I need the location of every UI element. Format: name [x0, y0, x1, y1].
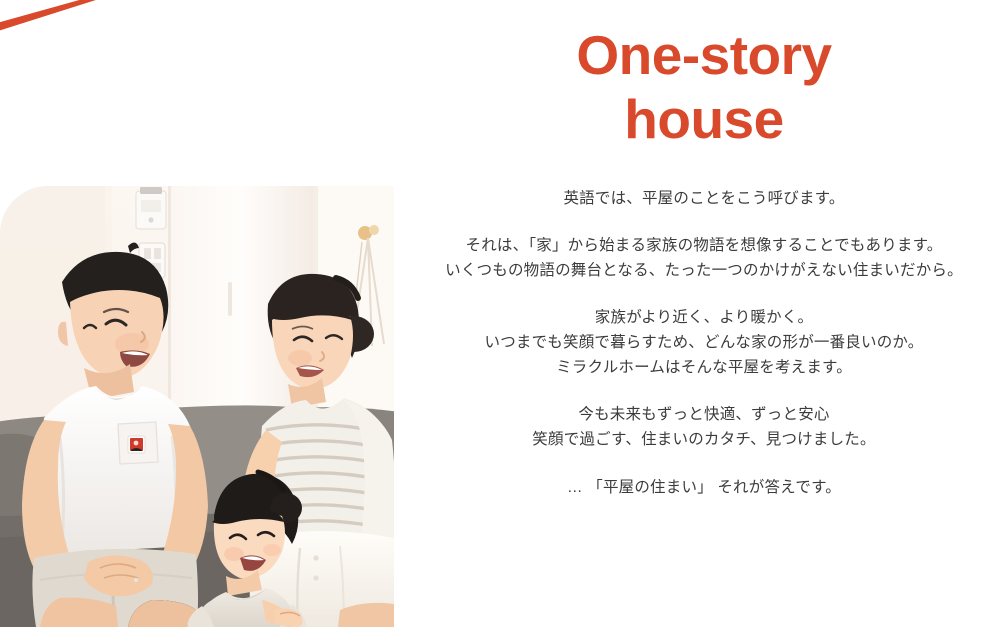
- body-line: ミラクルホームはそんな平屋を考えます。: [410, 355, 998, 380]
- body-line: 今も未来もずっと快適、ずっと安心: [410, 402, 998, 427]
- page-title: One-story house: [410, 23, 998, 152]
- body-line: いくつもの物語の舞台となる、たった一つのかけがえない住まいだから。: [410, 258, 998, 283]
- text-column: One-story house 英語では、平屋のことをこう呼びます。それは、「家…: [410, 0, 998, 627]
- body-line: … 「平屋の住まい」 それが答えです。: [410, 475, 998, 500]
- body-copy: 英語では、平屋のことをこう呼びます。それは、「家」から始まる家族の物語を想像する…: [410, 186, 998, 500]
- body-line: 家族がより近く、より暖かく。: [410, 305, 998, 330]
- diagonal-stripe-icon: [0, 0, 121, 32]
- headline-line-2: house: [410, 87, 998, 151]
- body-paragraph: 家族がより近く、より暖かく。いつまでも笑顔で暮らすため、どんな家の形が一番良いの…: [410, 305, 998, 380]
- body-paragraph: 今も未来もずっと快適、ずっと安心笑顔で過ごす、住まいのカタチ、見つけました。: [410, 402, 998, 452]
- family-photo-svg: [0, 186, 394, 627]
- body-line: 笑顔で過ごす、住まいのカタチ、見つけました。: [410, 427, 998, 452]
- body-line: いつまでも笑顔で暮らすため、どんな家の形が一番良いのか。: [410, 330, 998, 355]
- body-paragraph: それは、「家」から始まる家族の物語を想像することでもあります。いくつもの物語の舞…: [410, 233, 998, 283]
- headline-line-1: One-story: [410, 23, 998, 87]
- body-paragraph: … 「平屋の住まい」 それが答えです。: [410, 475, 998, 500]
- family-on-sofa-photo: [0, 186, 394, 627]
- body-line: 英語では、平屋のことをこう呼びます。: [410, 186, 998, 211]
- page-root: One-story house 英語では、平屋のことをこう呼びます。それは、「家…: [0, 0, 998, 627]
- body-paragraph: 英語では、平屋のことをこう呼びます。: [410, 186, 998, 211]
- body-line: それは、「家」から始まる家族の物語を想像することでもあります。: [410, 233, 998, 258]
- diagonal-stripe-svg: [0, 0, 121, 32]
